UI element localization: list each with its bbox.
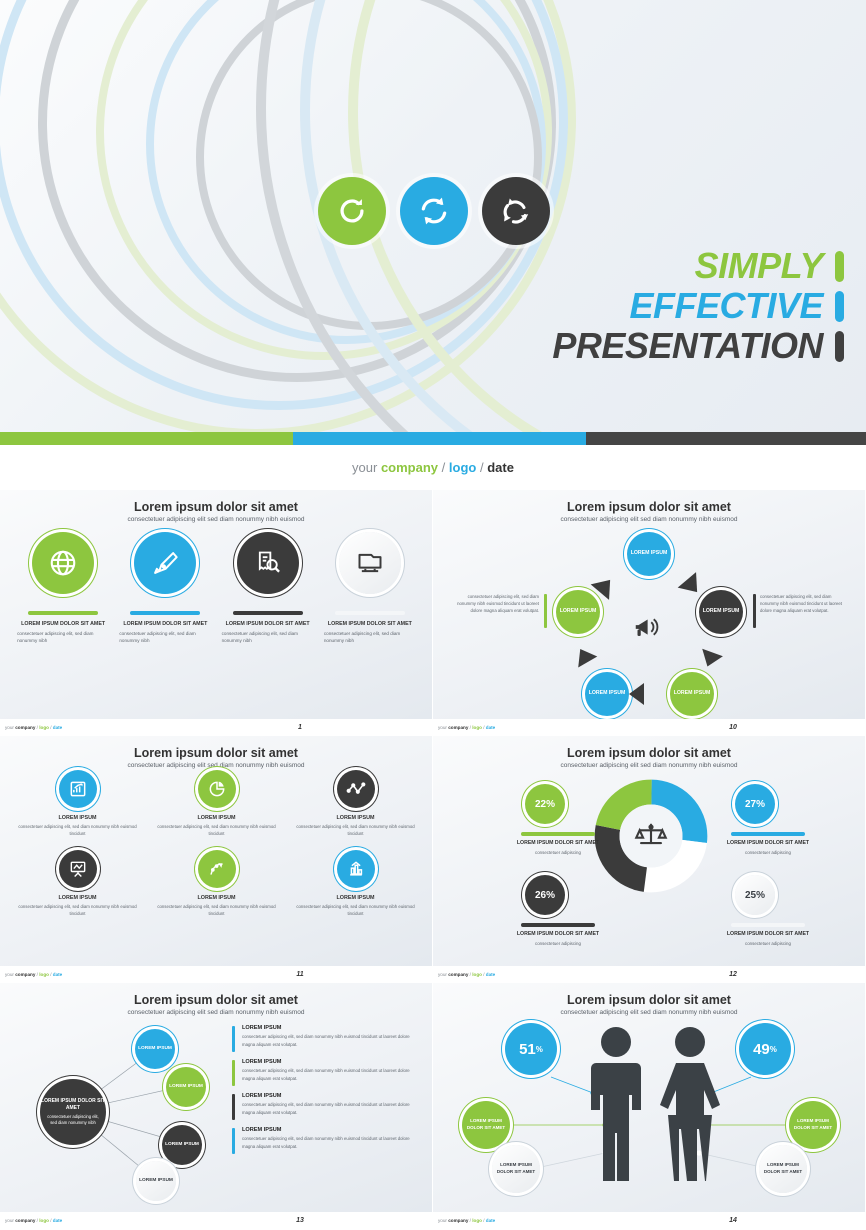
slide-14[interactable]: Lorem ipsum dolor sit amet consectetuer … [433,983,866,1229]
globe-icon[interactable] [32,532,94,594]
slide-1-item-3[interactable]: LOREM IPSUM DOLOR SIT AMET consectetuer … [222,532,314,644]
item-caption: LOREM IPSUM DOLOR SIT AMET [328,621,412,629]
cycle-node-left[interactable]: LOREM IPSUM [556,590,600,634]
side-text-right: consectetuer adipiscing elit, sed diam n… [760,594,848,615]
stat-badge-26[interactable]: 26% [525,875,565,915]
brand-date: date [487,460,514,475]
brand-company: company [381,460,438,475]
footer-company: company [448,725,468,730]
item-body: consectetuer adipiscing elit, sed diam n… [17,631,109,645]
hero-line-1: SIMPLY [552,248,844,284]
callout-left-green[interactable]: LOREM IPSUM DOLOR SIT AMET [462,1101,510,1149]
node-label: LOREM IPSUM [165,1142,199,1148]
slide-13-header: Lorem ipsum dolor sit amet consectetuer … [0,983,432,1016]
label-body: consectetuer adipiscing [503,941,613,947]
item-accent-bar [232,1128,235,1154]
item-label: LOREM IPSUM [336,815,374,821]
stat-value: 27% [745,799,765,810]
slide-footer: your company / logo / date 12 [433,966,865,982]
divider-bar [130,611,200,615]
spoke-node-2[interactable]: LOREM IPSUM [166,1067,206,1107]
callout-label: LOREM IPSUM DOLOR SIT AMET [492,1162,540,1175]
stat-divider-dark [521,923,595,927]
slide-11-items: LOREM IPSUM consectetuer adipiscing elit… [8,770,425,918]
slide-grid: four-circle-icons Lorem ipsum dolor sit … [0,490,866,1229]
hero-accent-bar-green [835,251,844,282]
bar-chart-growth-icon[interactable] [59,770,97,808]
stat-label-27: LOREM IPSUM DOLOR SIT AMET consectetuer … [713,840,823,856]
footer-sep-1: / [470,972,471,977]
item-body: consectetuer adipiscing elit, sed diam n… [242,1101,422,1116]
stripe-segment-blue [293,432,586,445]
footer-logo: logo [472,972,482,977]
node-label: LOREM IPSUM [139,1178,173,1184]
item-caption: LOREM IPSUM DOLOR SIT AMET [226,621,310,629]
footer-brand: your company / logo / date [438,725,495,730]
slide-13[interactable]: Lorem ipsum dolor sit amet consectetuer … [0,983,433,1229]
footer-brand: your company / logo / date [5,1218,62,1223]
hero-accent-bar-blue [835,291,844,322]
item-accent-bar [232,1060,235,1086]
brand-stripe [0,432,866,445]
slide-11-header: Lorem ipsum dolor sit amet consectetuer … [0,736,432,769]
label-body: consectetuer adipiscing [503,850,613,856]
label-text: LOREM IPSUM DOLOR SIT AMET [517,931,599,937]
slide-1[interactable]: four-circle-icons Lorem ipsum dolor sit … [0,490,433,736]
footer-company: company [448,972,468,977]
callout-left-white[interactable]: LOREM IPSUM DOLOR SIT AMET [492,1145,540,1193]
brand-separator-1: / [442,460,446,475]
stat-badge-22[interactable]: 22% [525,784,565,824]
hero-accent-bar-dark [835,331,844,362]
footer-your: your [438,725,447,730]
stat-divider-white [731,923,805,927]
pen-nib-icon[interactable] [134,532,196,594]
slide-11-item-4[interactable]: LOREM IPSUM consectetuer adipiscing elit… [8,850,147,918]
page-title: Lorem ipsum dolor sit amet [433,746,865,760]
megaphone-icon [632,612,662,647]
slide-10-diagram: LOREM IPSUM LOREM IPSUM LOREM IPSUM LORE… [433,520,866,716]
item-body: consectetuer adipiscing elit, sed diam n… [324,631,416,645]
side-text-left: consectetuer adipiscing elit, sed diam n… [451,594,539,615]
footer-date: date [486,1218,495,1223]
footer-company: company [448,1218,468,1223]
page-title: Lorem ipsum dolor sit amet [433,993,865,1007]
item-body: consectetuer adipiscing elit, sed diam n… [293,904,418,918]
slide-10-header: Lorem ipsum dolor sit amet consectetuer … [433,490,865,523]
callout-right-green[interactable]: LOREM IPSUM DOLOR SIT AMET [789,1101,837,1149]
slide-11-item-5[interactable]: LOREM IPSUM consectetuer adipiscing elit… [147,850,286,918]
footer-date: date [53,725,62,730]
footer-sep-1: / [470,725,471,730]
spoke-node-1[interactable]: LOREM IPSUM [135,1029,175,1069]
slide-footer: your company / logo / date 1 [0,719,432,735]
item-label: LOREM IPSUM [58,815,96,821]
slide-footer: your company / logo / date 14 [433,1212,865,1228]
item-heading: LOREM IPSUM [242,1127,422,1133]
footer-brand: your company / logo / date [438,1218,495,1223]
footer-company: company [15,1218,35,1223]
stat-value: 22% [535,799,555,810]
stat-label-25: LOREM IPSUM DOLOR SIT AMET consectetuer … [713,931,823,947]
stat-suffix: % [536,1045,543,1054]
monitor-icon[interactable] [339,532,401,594]
item-body: consectetuer adipiscing elit, sed diam n… [242,1135,422,1150]
item-body: consectetuer adipiscing elit, sed diam n… [242,1033,422,1048]
item-accent-bar [232,1026,235,1052]
stat-value: 49 [753,1041,770,1058]
stripe-segment-dark [586,432,866,445]
item-heading: LOREM IPSUM [242,1025,422,1031]
slide-1-item-1[interactable]: LOREM IPSUM DOLOR SIT AMET consectetuer … [17,532,109,644]
node-label: LOREM IPSUM [674,690,711,697]
item-label: LOREM IPSUM [197,895,235,901]
arrow-top-right [678,572,707,600]
stat-value: 25% [745,890,765,901]
brand-your: your [352,460,377,475]
slide-12-header: Lorem ipsum dolor sit amet consectetuer … [433,736,865,769]
slide-footer: your company / logo / date 13 [0,1212,432,1228]
footer-sep-2: / [483,972,484,977]
node-label: LOREM IPSUM [589,690,626,697]
hub-label: LOREM IPSUM DOLOR SIT AMET [40,1098,106,1112]
presentation-board-icon[interactable] [59,850,97,888]
page-number: 14 [729,1217,737,1224]
slide-11-item-1[interactable]: LOREM IPSUM consectetuer adipiscing elit… [8,770,147,838]
slide-11-item-2[interactable]: LOREM IPSUM consectetuer adipiscing elit… [147,770,286,838]
footer-date: date [486,725,495,730]
slide-footer: your company / logo / date 10 [433,719,865,735]
brand-text: your company / logo / date [352,460,514,475]
footer-company: company [15,972,35,977]
stat-badge-27[interactable]: 27% [735,784,775,824]
stat-value: 26% [535,890,555,901]
stat-value: 51 [519,1041,536,1058]
arrow-left-up [591,572,620,600]
refresh-icon[interactable] [318,177,386,245]
item-body: consectetuer adipiscing elit, sed diam n… [154,904,279,918]
node-label: LOREM IPSUM [703,608,740,615]
stripe-segment-green [0,432,293,445]
brand-bar: your company / logo / date [0,445,866,490]
item-label: LOREM IPSUM [197,815,235,821]
slide-11-item-3[interactable]: LOREM IPSUM consectetuer adipiscing elit… [286,770,425,838]
side-bar-right [753,594,756,628]
stat-suffix: % [770,1045,777,1054]
page-title: Lorem ipsum dolor sit amet [0,993,432,1007]
footer-logo: logo [472,725,482,730]
node-label: LOREM IPSUM [560,608,597,615]
footer-sep-1: / [37,725,38,730]
slide-1-item-2[interactable]: LOREM IPSUM DOLOR SIT AMET consectetuer … [119,532,211,644]
divider-bar [233,611,303,615]
footer-sep-2: / [50,972,51,977]
arrow-left-down [571,644,598,668]
page-number: 1 [298,724,302,731]
stat-badge-25[interactable]: 25% [735,875,775,915]
arrow-right-down [697,649,723,671]
slide-11-item-6[interactable]: LOREM IPSUM consectetuer adipiscing elit… [286,850,425,918]
item-caption: LOREM IPSUM DOLOR SIT AMET [21,621,105,629]
item-accent-bar [232,1094,235,1120]
stat-divider-blue [731,832,805,836]
side-bar-left [544,594,547,628]
arrow-bottom-left [629,683,644,705]
footer-sep-2: / [50,1218,51,1223]
page-title: Lorem ipsum dolor sit amet [0,500,432,514]
spoke-node-3[interactable]: LOREM IPSUM [162,1125,202,1165]
page-number: 11 [296,971,303,978]
node-label: LOREM IPSUM [631,550,668,557]
donut-chart [593,778,709,899]
label-body: consectetuer adipiscing [713,941,823,947]
list-item[interactable]: LOREM IPSUM consectetuer adipiscing elit… [232,1059,422,1082]
page-number: 12 [729,971,737,978]
list-item[interactable]: LOREM IPSUM consectetuer adipiscing elit… [232,1093,422,1116]
item-body: consectetuer adipiscing elit, sed diam n… [222,631,314,645]
spoke-node-4[interactable]: LOREM IPSUM [136,1161,176,1201]
cycle-node-top[interactable]: LOREM IPSUM [627,532,671,576]
page-title: Lorem ipsum dolor sit amet [0,746,432,760]
stat-badge-51[interactable]: 51% [505,1023,557,1075]
hub-body: consectetuer adipiscing elit, sed diam n… [47,1114,99,1126]
hero-icon-cluster [318,176,558,246]
item-body: consectetuer adipiscing elit, sed diam n… [15,824,140,838]
cycle-node-bottom-right[interactable]: LOREM IPSUM [670,672,714,716]
footer-company: company [15,725,35,730]
label-text: LOREM IPSUM DOLOR SIT AMET [727,840,809,846]
hero-word-effective: EFFECTIVE [629,288,823,324]
footer-date: date [53,1218,62,1223]
page-subtitle: consectetuer adipiscing elit sed diam no… [433,762,865,769]
footer-sep-1: / [37,1218,38,1223]
line-chart-icon[interactable] [337,770,375,808]
sync-icon[interactable] [400,177,468,245]
footer-logo: logo [39,1218,49,1223]
brand-separator-2: / [480,460,484,475]
slide-13-list: LOREM IPSUM consectetuer adipiscing elit… [232,1025,422,1161]
slide-1-header: four-circle-icons Lorem ipsum dolor sit … [0,490,432,523]
hero-line-2: EFFECTIVE [552,288,844,324]
footer-your: your [438,1218,447,1223]
item-heading: LOREM IPSUM [242,1059,422,1065]
page-number: 10 [729,724,737,731]
spoke-connectors [0,1015,240,1215]
growth-arrow-icon[interactable] [198,850,236,888]
footer-your: your [5,1218,14,1223]
footer-your: your [5,725,14,730]
invoice-search-icon[interactable] [237,532,299,594]
callout-label: LOREM IPSUM DOLOR SIT AMET [759,1162,807,1175]
callout-label: LOREM IPSUM DOLOR SIT AMET [462,1118,510,1131]
item-body: consectetuer adipiscing elit, sed diam n… [119,631,211,645]
divider-bar [335,611,405,615]
footer-date: date [486,972,495,977]
slide-10[interactable]: Lorem ipsum dolor sit amet consectetuer … [433,490,866,736]
footer-brand: your company / logo / date [438,972,495,977]
footer-sep-1: / [37,972,38,977]
footer-logo: logo [39,972,49,977]
slide-11[interactable]: Lorem ipsum dolor sit amet consectetuer … [0,736,433,983]
hero-slide: SIMPLY EFFECTIVE PRESENTATION [0,0,866,432]
item-label: LOREM IPSUM [58,895,96,901]
stat-badge-49[interactable]: 49% [739,1023,791,1075]
callout-label: LOREM IPSUM DOLOR SIT AMET [789,1118,837,1131]
footer-sep-2: / [483,725,484,730]
footer-brand: your company / logo / date [5,725,62,730]
footer-sep-2: / [50,725,51,730]
label-text: LOREM IPSUM DOLOR SIT AMET [517,840,599,846]
item-heading: LOREM IPSUM [242,1093,422,1099]
presentation-template-page: SIMPLY EFFECTIVE PRESENTATION your compa… [0,0,866,1230]
node-label: LOREM IPSUM [138,1046,172,1052]
list-item[interactable]: LOREM IPSUM consectetuer adipiscing elit… [232,1127,422,1150]
footer-logo: logo [472,1218,482,1223]
stat-label-22: LOREM IPSUM DOLOR SIT AMET consectetuer … [503,840,613,856]
female-figure-icon [657,1025,723,1188]
node-label: LOREM IPSUM [169,1084,203,1090]
hub-circle[interactable]: LOREM IPSUM DOLOR SIT AMET consectetuer … [40,1079,106,1145]
male-figure-icon [585,1025,647,1188]
footer-brand: your company / logo / date [5,972,62,977]
footer-logo: logo [39,725,49,730]
slide-1-item-4[interactable]: LOREM IPSUM DOLOR SIT AMET consectetuer … [324,532,416,644]
cycle-node-bottom-left[interactable]: LOREM IPSUM [585,672,629,716]
hero-word-simply: SIMPLY [695,248,823,284]
bar-chart-icon[interactable] [337,850,375,888]
footer-date: date [53,972,62,977]
slide-1-items: LOREM IPSUM DOLOR SIT AMET consectetuer … [12,532,421,644]
page-title: Lorem ipsum dolor sit amet [433,500,865,514]
hero-title: SIMPLY EFFECTIVE PRESENTATION [552,248,844,368]
slide-12[interactable]: Lorem ipsum dolor sit amet consectetuer … [433,736,866,983]
footer-your: your [5,972,14,977]
hero-line-3: PRESENTATION [552,328,844,364]
callout-right-white[interactable]: LOREM IPSUM DOLOR SIT AMET [759,1145,807,1193]
list-item[interactable]: LOREM IPSUM consectetuer adipiscing elit… [232,1025,422,1048]
item-label: LOREM IPSUM [336,895,374,901]
page-subtitle: consectetuer adipiscing elit sed diam no… [0,516,432,523]
cycle-node-right[interactable]: LOREM IPSUM [699,590,743,634]
slide-footer: your company / logo / date 11 [0,966,432,982]
footer-your: your [438,972,447,977]
page-number: 13 [296,1217,304,1224]
hero-word-presentation: PRESENTATION [552,328,823,364]
page-subtitle: consectetuer adipiscing elit sed diam no… [0,762,432,769]
pie-chart-icon[interactable] [198,770,236,808]
item-body: consectetuer adipiscing elit, sed diam n… [154,824,279,838]
item-caption: LOREM IPSUM DOLOR SIT AMET [123,621,207,629]
footer-sep-1: / [470,1218,471,1223]
stat-label-26: LOREM IPSUM DOLOR SIT AMET consectetuer … [503,931,613,947]
item-body: consectetuer adipiscing elit, sed diam n… [242,1067,422,1082]
brand-logo: logo [449,460,476,475]
scales-icon [633,819,669,858]
item-body: consectetuer adipiscing elit, sed diam n… [293,824,418,838]
stat-divider-green [521,832,595,836]
footer-sep-2: / [483,1218,484,1223]
slide-14-header: Lorem ipsum dolor sit amet consectetuer … [433,983,865,1016]
item-body: consectetuer adipiscing elit, sed diam n… [15,904,140,918]
recycle-icon[interactable] [482,177,550,245]
label-body: consectetuer adipiscing [713,850,823,856]
label-text: LOREM IPSUM DOLOR SIT AMET [727,931,809,937]
divider-bar [28,611,98,615]
